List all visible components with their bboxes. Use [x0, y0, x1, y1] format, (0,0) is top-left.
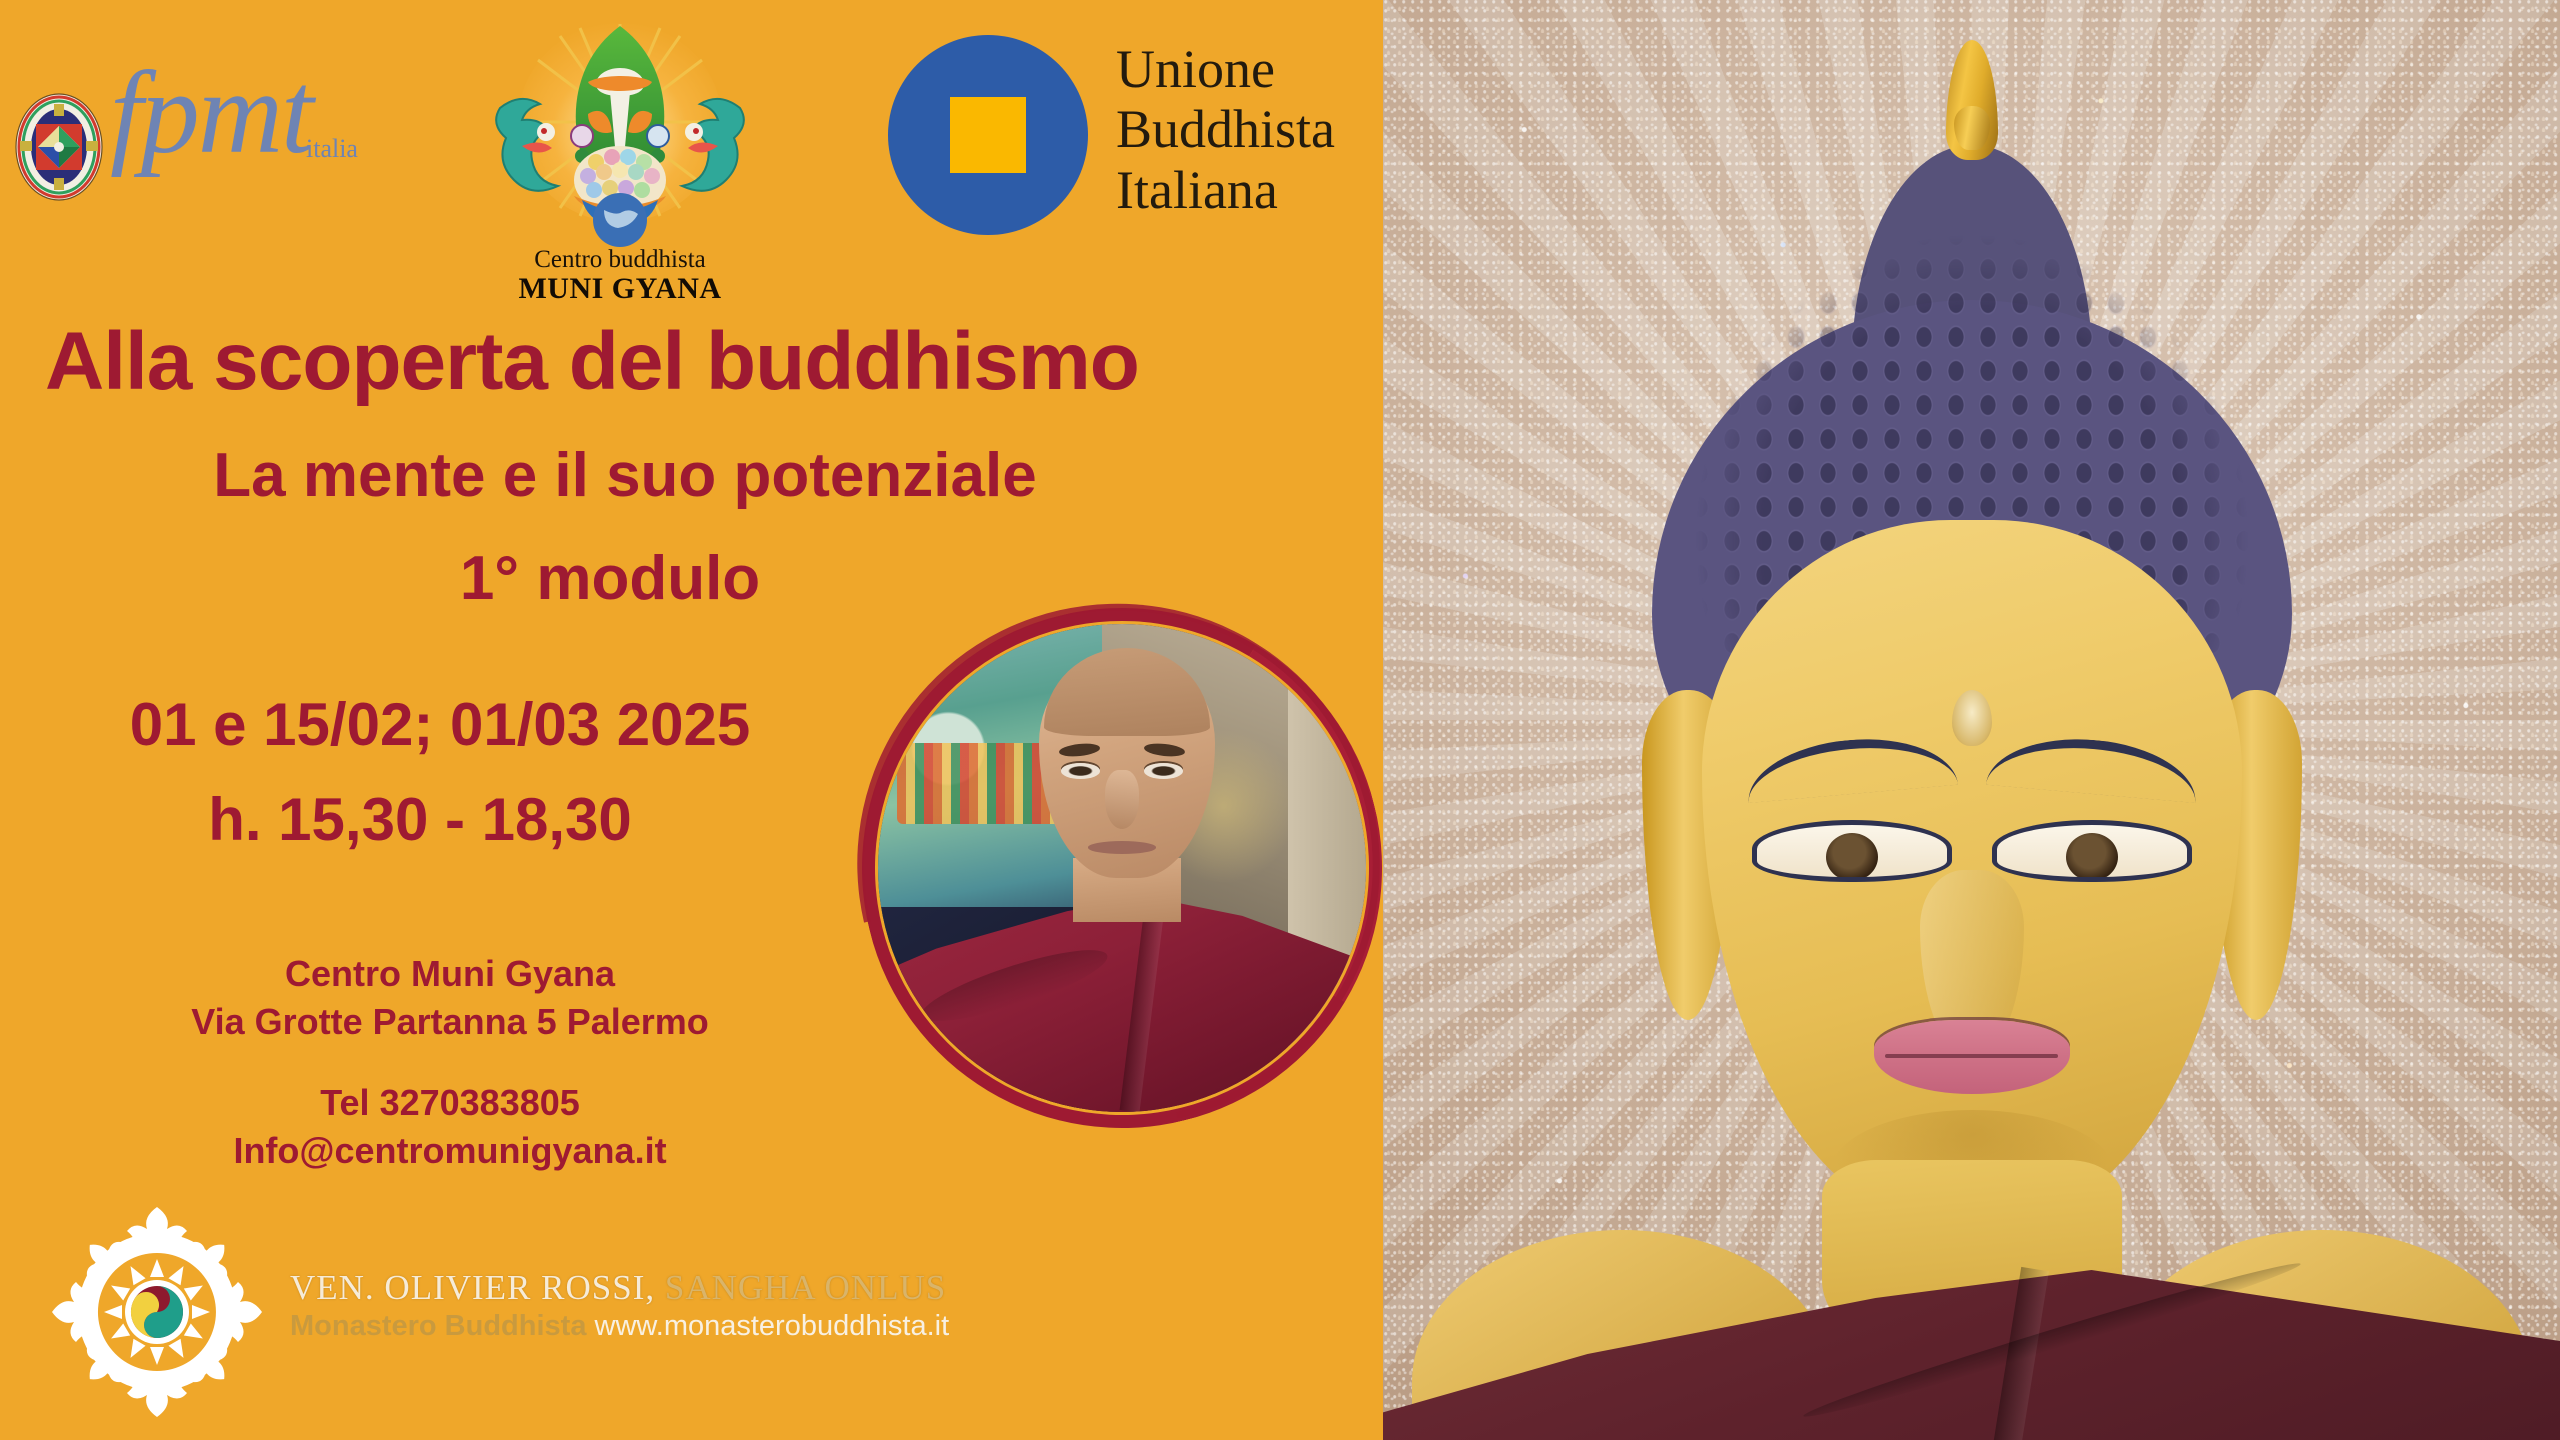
fpmt-wordmark: fpmt — [110, 54, 312, 172]
monastero-logo — [50, 1205, 280, 1435]
buddha-eye-right — [1992, 820, 2192, 882]
ubi-inner-square — [950, 97, 1026, 173]
contact-phone[interactable]: Tel 3270383805 — [0, 1079, 900, 1127]
contact-email[interactable]: Info@centromunigyana.it — [0, 1127, 900, 1175]
monastero-label: Monastero Buddhista — [290, 1310, 586, 1342]
venue-address: Via Grotte Partanna 5 Palermo — [0, 998, 900, 1046]
portrait-ring-accent — [759, 505, 1479, 1224]
fpmt-subtitle: italia — [306, 134, 358, 164]
fpmt-logo: fpmt italia — [14, 82, 364, 192]
monastero-credit-line2: Monastero Buddhista www.monasterobuddhis… — [290, 1310, 950, 1343]
event-dates: 01 e 15/02; 01/03 2025 — [0, 690, 880, 759]
contact-spacer — [0, 1045, 900, 1079]
monastero-credit: VEN. OLIVIER ROSSI, SANGHA ONLUS Monaste… — [290, 1268, 950, 1343]
ubi-circle-square-icon — [888, 35, 1088, 235]
module-label: 1° modulo — [0, 543, 1220, 614]
muni-gyana-caption-line1: Centro buddhista — [470, 246, 770, 274]
buddha-pupil-right — [2066, 833, 2118, 881]
buddha-crown-jewel-icon — [1946, 40, 1998, 160]
fpmt-mandala-icon — [14, 92, 104, 202]
ubi-text-line2: Buddhista — [1116, 99, 1335, 159]
ubi-text-block: Unione Buddhista Italiana — [1116, 39, 1335, 220]
ubi-text-line1: Unione — [1116, 39, 1335, 99]
venue-name: Centro Muni Gyana — [0, 950, 900, 998]
dharma-wheel-icon — [50, 1205, 265, 1420]
buddha-urna-mark — [1952, 690, 1992, 746]
contact-block: Centro Muni Gyana Via Grotte Partanna 5 … — [0, 950, 900, 1174]
sangha-name: SANGHA ONLUS — [665, 1268, 946, 1307]
muni-gyana-logo: Centro buddhista MUNI GYANA — [470, 10, 770, 300]
ubi-text-line3: Italiana — [1116, 160, 1335, 220]
teacher-name: VEN. OLIVIER ROSSI, — [290, 1268, 655, 1307]
page-subtitle: La mente e il suo potenziale — [0, 440, 1250, 511]
page-title: Alla scoperta del buddhismo — [45, 315, 1345, 409]
muni-gyana-caption-line2: MUNI GYANA — [470, 272, 770, 306]
buddha-statue-illustration — [1383, 0, 2560, 1440]
buddha-eye-left — [1752, 820, 1952, 882]
buddha-image-panel — [1383, 0, 2560, 1440]
monastero-credit-line1: VEN. OLIVIER ROSSI, SANGHA ONLUS — [290, 1268, 950, 1308]
event-times: h. 15,30 - 18,30 — [0, 785, 840, 854]
buddha-pupil-left — [1826, 833, 1878, 881]
ubi-logo: Unione Buddhista Italiana — [888, 35, 1368, 215]
info-panel: fpmt italia — [0, 0, 1383, 1440]
monastero-website[interactable]: www.monasterobuddhista.it — [595, 1310, 950, 1342]
poster-canvas: fpmt italia — [0, 0, 2560, 1440]
teacher-portrait — [862, 608, 1382, 1128]
